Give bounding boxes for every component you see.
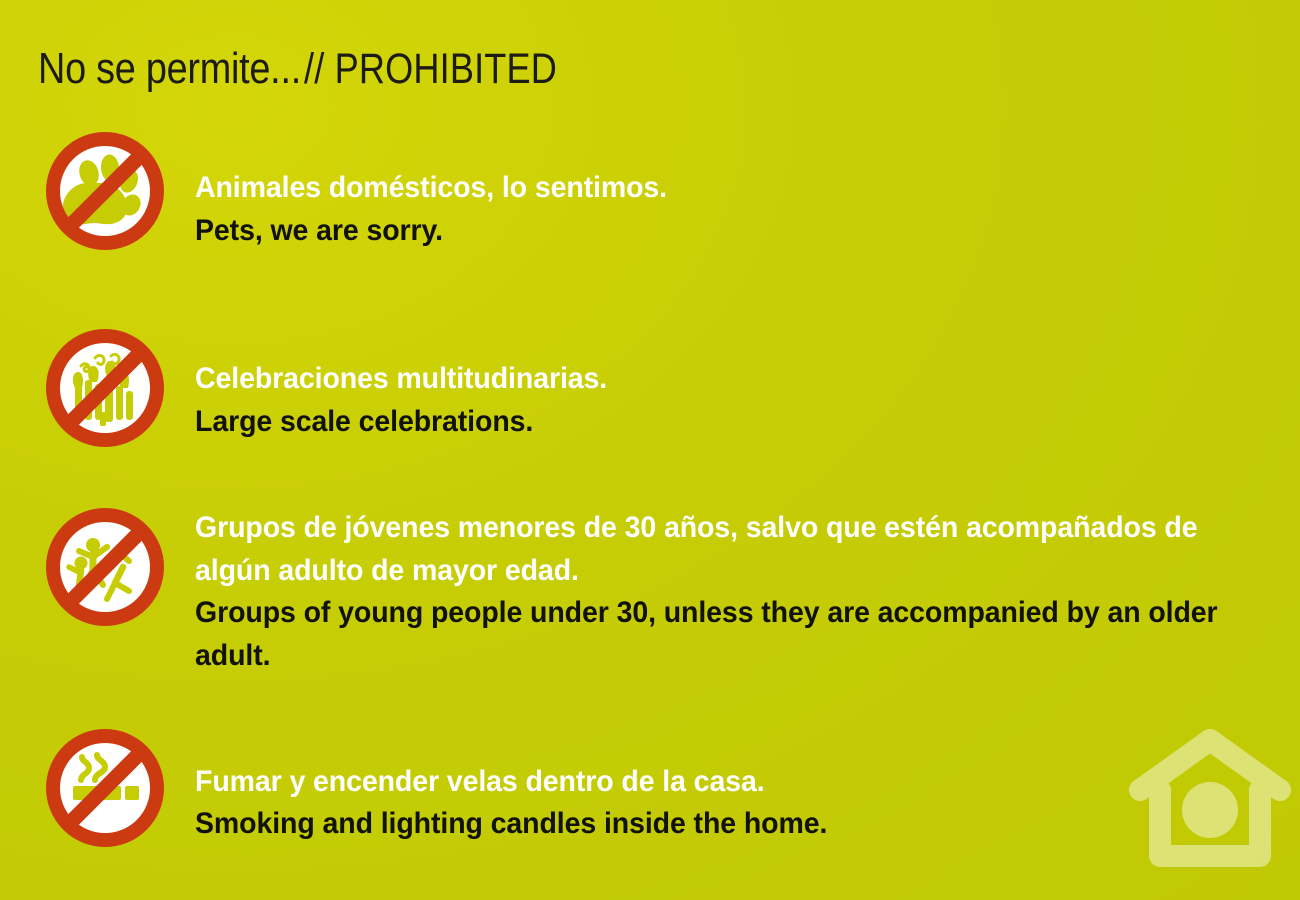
no-smoking-candles-cigarette-icon [45,728,165,848]
rule-item: Fumar y encender velas dentro de la casa… [0,728,1300,848]
rule-text-block: Celebraciones multitudinarias. Large sca… [165,328,1300,443]
rule-text-spanish: Celebraciones multitudinarias. [195,358,1228,401]
rule-text-block: Fumar y encender velas dentro de la casa… [165,728,1300,846]
rule-text-spanish: Animales domésticos, lo sentimos. [195,167,1228,210]
prohibited-rules-poster: No se permite... // PROHIBITED [0,0,1300,900]
no-young-groups-people-icon [45,507,165,627]
rule-text-english: Large scale celebrations. [195,401,1228,444]
rules-list: Animales domésticos, lo sentimos. Pets, … [0,131,1300,848]
no-large-celebrations-crowd-icon [45,328,165,448]
rule-item: Animales domésticos, lo sentimos. Pets, … [0,131,1300,252]
rule-text-english: Pets, we are sorry. [195,210,1228,253]
page-title-english: // PROHIBITED [304,45,557,94]
rule-item: Grupos de jóvenes menores de 30 años, sa… [0,507,1300,677]
page-title: No se permite... // PROHIBITED [38,44,605,94]
page-title-spanish: No se permite... [38,44,301,94]
rule-text-english: Smoking and lighting candles inside the … [195,803,1228,846]
rule-text-spanish: Fumar y encender velas dentro de la casa… [195,761,1228,804]
rule-text-block: Animales domésticos, lo sentimos. Pets, … [165,131,1300,252]
rule-item: Celebraciones multitudinarias. Large sca… [0,328,1300,448]
rule-text-block: Grupos de jóvenes menores de 30 años, sa… [165,507,1300,677]
rule-text-english: Groups of young people under 30, unless … [195,592,1228,677]
no-pets-paw-icon [45,131,165,251]
rule-text-spanish: Grupos de jóvenes menores de 30 años, sa… [195,507,1228,592]
